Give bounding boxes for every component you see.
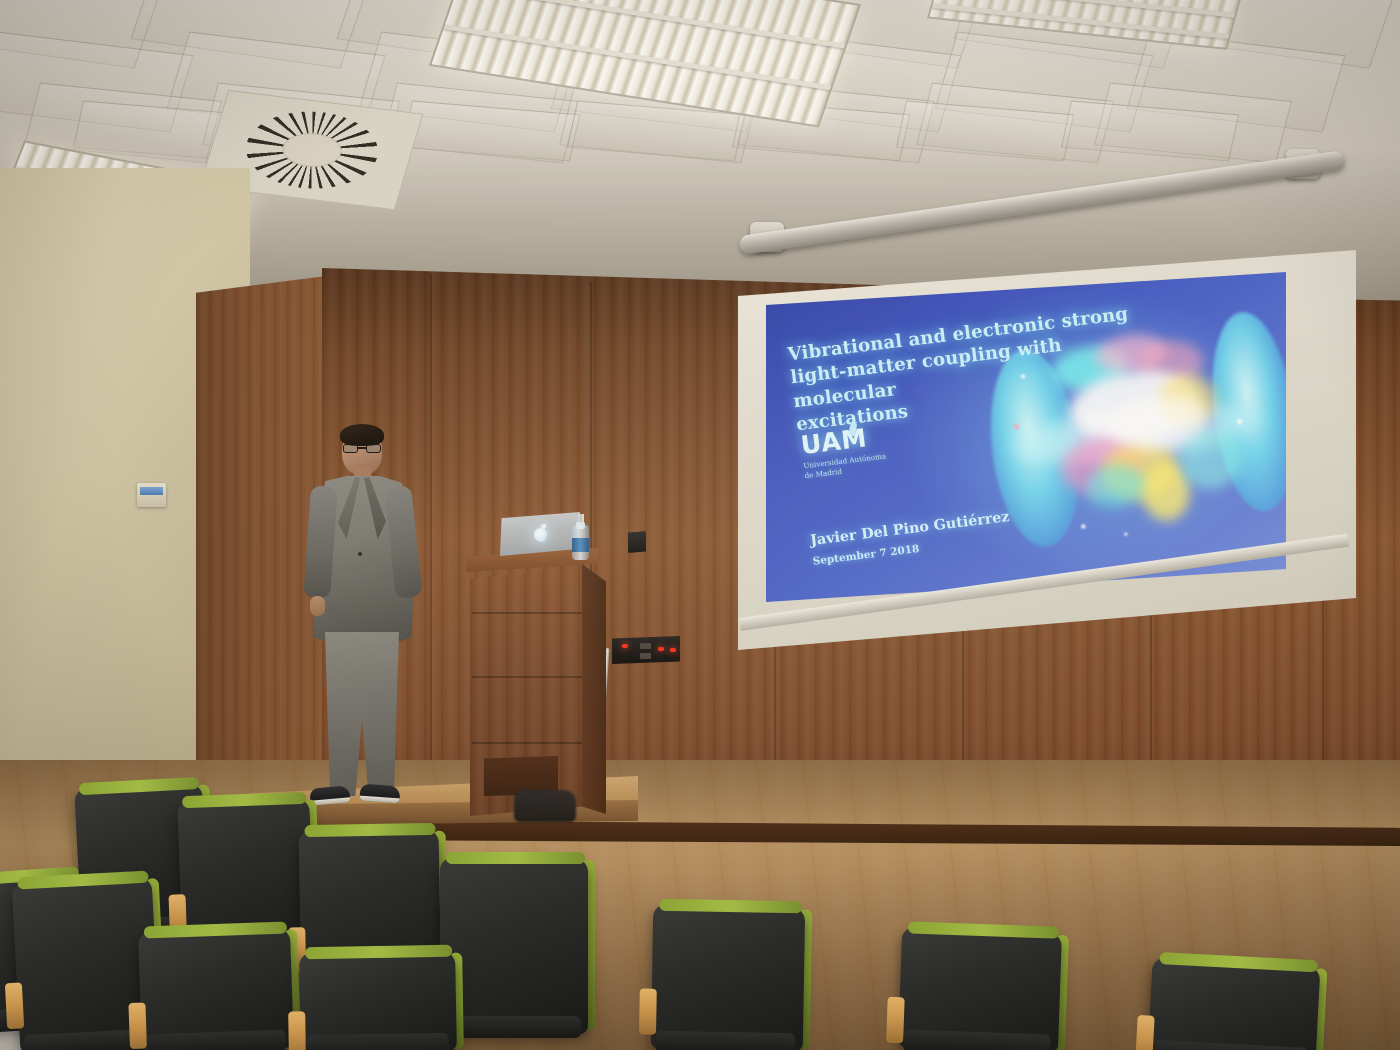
auditorium-seat[interactable] [898, 927, 1062, 1050]
projection-screen-assembly: Vibrational and electronic strong light-… [716, 150, 1366, 670]
seat-back [651, 905, 805, 1050]
presenter-trousers [320, 632, 404, 796]
presenter-hair [340, 424, 384, 446]
presenter-hand [310, 596, 325, 616]
seat-armrest-wood [128, 1002, 147, 1049]
wall-thermostat-panel[interactable] [137, 483, 166, 507]
av-indicator-led-icon [670, 648, 676, 652]
lecture-hall-photo: Vibrational and electronic strong light-… [0, 0, 1400, 1050]
screen-roller-bar[interactable] [739, 150, 1346, 255]
seat-back [1147, 958, 1320, 1050]
seat-armrest-wood [886, 997, 905, 1044]
jacket-button [358, 552, 362, 556]
av-indicator-led-icon [622, 644, 628, 648]
water-bottle [572, 514, 589, 560]
seat-trim-top [305, 945, 452, 960]
seat-armrest-wood [1135, 1015, 1154, 1050]
auditorium-seat[interactable] [1147, 958, 1320, 1050]
seat-trim-top [659, 899, 802, 913]
lectern [466, 548, 606, 826]
av-wall-plate[interactable] [612, 636, 680, 664]
seat-cushion [444, 1016, 580, 1038]
bag-under-lectern [514, 790, 576, 822]
seat-cushion [655, 1031, 795, 1050]
apple-logo-icon [534, 528, 547, 542]
presenter-shoe [359, 784, 400, 804]
av-indicator-led-icon [658, 647, 664, 651]
wall-speaker-icon [628, 531, 646, 553]
presenter-person [298, 424, 424, 810]
seat-trim-top [446, 852, 585, 864]
auditorium-seat[interactable] [299, 951, 457, 1050]
thermostat-display [140, 487, 163, 495]
bottle-label [572, 538, 589, 552]
auditorium-seat[interactable] [138, 927, 294, 1050]
seat-armrest-wood [288, 1011, 306, 1050]
seat-trim-top [304, 823, 436, 837]
seat-armrest-wood [639, 988, 657, 1034]
eyeglasses-icon [343, 444, 381, 453]
seat-armrest-wood [5, 982, 24, 1029]
auditorium-seat[interactable] [651, 905, 805, 1050]
lectern-side-panel [582, 564, 606, 814]
seat-cushion [305, 1033, 449, 1050]
